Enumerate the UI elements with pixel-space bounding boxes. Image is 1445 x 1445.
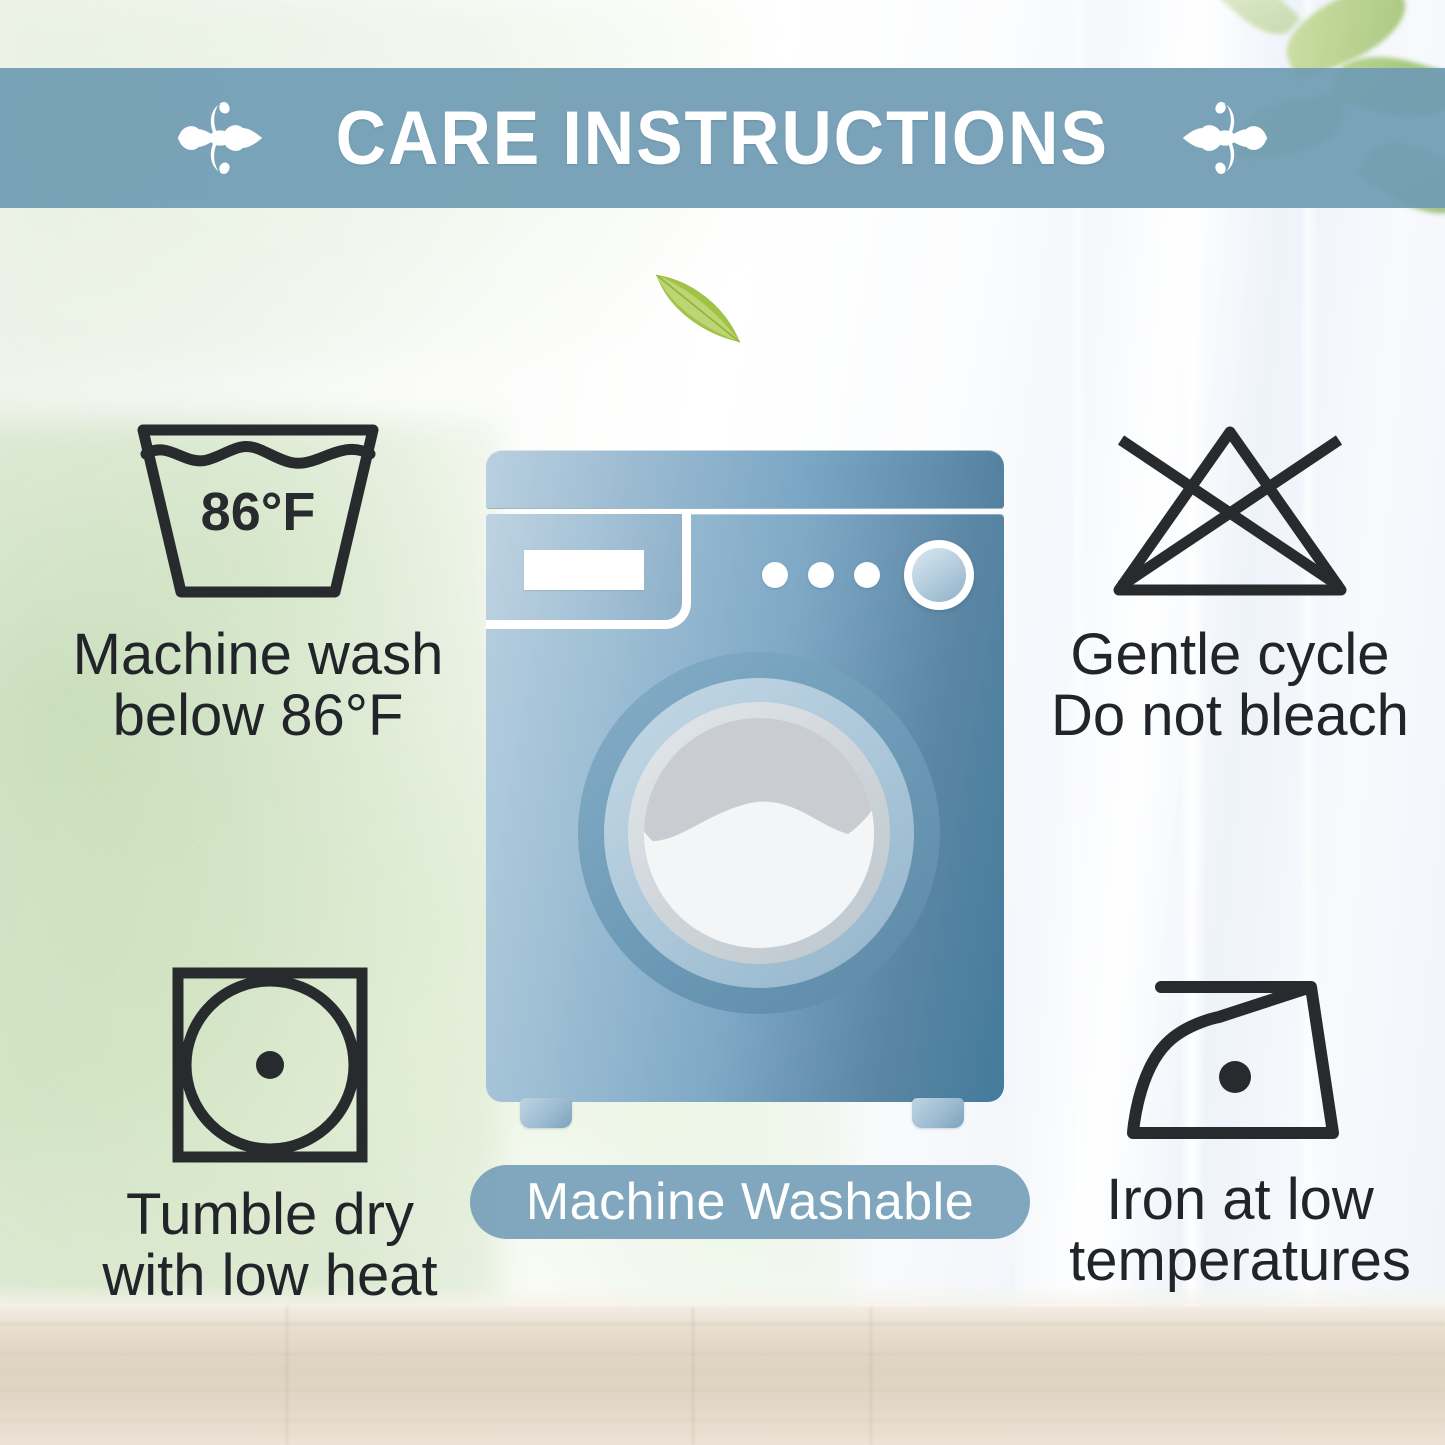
care-caption-tumble-dry: Tumble dry with low heat bbox=[102, 1184, 437, 1307]
washing-machine-illustration bbox=[480, 450, 1010, 1130]
tumble-dry-low-icon bbox=[170, 965, 370, 1170]
iron-one-dot-icon bbox=[1115, 965, 1365, 1155]
wash-temperature-value: 86°F bbox=[201, 482, 316, 542]
header-banner: CARE INSTRUCTIONS bbox=[0, 68, 1445, 208]
badge-label: Machine Washable bbox=[526, 1172, 974, 1232]
caption-line: Tumble dry bbox=[102, 1184, 437, 1245]
wash-tub-icon: 86°F bbox=[133, 420, 383, 610]
caption-line: Iron at low bbox=[1069, 1169, 1411, 1230]
caption-line: Machine wash bbox=[73, 624, 444, 685]
washer-foot bbox=[520, 1098, 572, 1128]
caption-line: Do not bleach bbox=[1051, 685, 1409, 746]
door-rim bbox=[628, 702, 890, 964]
fleur-de-lis-icon bbox=[172, 90, 268, 186]
care-symbol-machine-wash: 86°F Machine wash below 86°F bbox=[48, 420, 468, 747]
caption-line: below 86°F bbox=[73, 685, 444, 746]
care-instructions-infographic: CARE INSTRUCTIONS bbox=[0, 0, 1445, 1445]
care-symbol-iron-low: Iron at low temperatures bbox=[1040, 965, 1440, 1292]
machine-washable-badge: Machine Washable bbox=[470, 1165, 1030, 1239]
crossed-triangle-icon bbox=[1105, 420, 1355, 610]
drawer-handle bbox=[524, 550, 644, 590]
caption-line: temperatures bbox=[1069, 1230, 1411, 1291]
care-caption-iron-low: Iron at low temperatures bbox=[1069, 1169, 1411, 1292]
indicator-dot bbox=[762, 562, 788, 588]
washer-body bbox=[486, 514, 1004, 1102]
door-glass bbox=[644, 718, 874, 948]
care-caption-machine-wash: Machine wash below 86°F bbox=[73, 624, 444, 747]
indicator-dot bbox=[808, 562, 834, 588]
care-symbol-do-not-bleach: Gentle cycle Do not bleach bbox=[1020, 420, 1440, 747]
washer-door bbox=[578, 652, 940, 1014]
caption-line: Gentle cycle bbox=[1051, 624, 1409, 685]
care-symbol-tumble-dry: Tumble dry with low heat bbox=[70, 965, 470, 1307]
door-ring bbox=[604, 678, 914, 988]
washer-top-lid bbox=[486, 450, 1004, 508]
detergent-drawer bbox=[486, 514, 691, 629]
washer-foot bbox=[912, 1098, 964, 1128]
drum-shadow bbox=[644, 718, 874, 868]
fleur-de-lis-icon bbox=[1177, 90, 1273, 186]
indicator-dot bbox=[854, 562, 880, 588]
care-caption-do-not-bleach: Gentle cycle Do not bleach bbox=[1051, 624, 1409, 747]
caption-line: with low heat bbox=[102, 1245, 437, 1306]
page-title: CARE INSTRUCTIONS bbox=[336, 95, 1109, 182]
wooden-surface bbox=[0, 1307, 1445, 1445]
control-knob bbox=[904, 540, 974, 610]
